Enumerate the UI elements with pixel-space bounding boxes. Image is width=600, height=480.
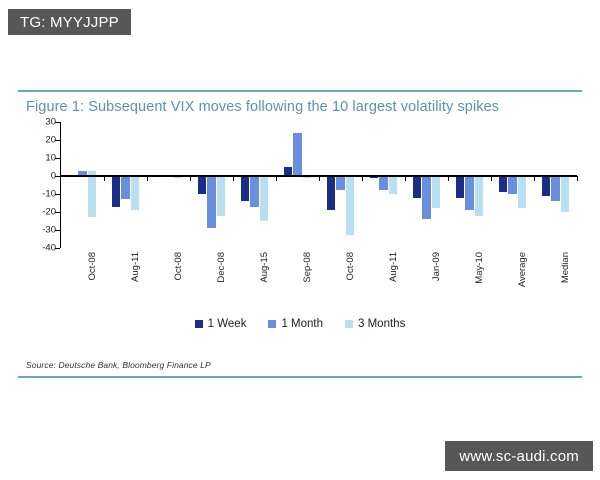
bar-group (198, 122, 226, 248)
legend-item[interactable]: 1 Month (268, 318, 323, 330)
bar-3-months[interactable] (346, 176, 355, 235)
x-axis-tick (104, 176, 105, 181)
chart-plot: 3020100-10-20-30-40 Oct-08Aug-11Oct-08De… (18, 122, 582, 332)
legend-swatch-icon (268, 320, 276, 328)
bar-group (456, 122, 484, 248)
x-axis-tick (362, 176, 363, 181)
bar-3-months[interactable] (217, 176, 226, 216)
y-axis-tick (55, 176, 60, 177)
x-axis-tick (319, 176, 320, 181)
legend-swatch-icon (345, 320, 353, 328)
y-tick-label: -40 (42, 243, 56, 254)
legend-label: 1 Month (281, 318, 323, 330)
bar-1-week[interactable] (241, 176, 250, 201)
x-axis-tick (190, 176, 191, 181)
bar-1-month[interactable] (379, 176, 388, 190)
x-tick-label: Dec-08 (216, 252, 227, 283)
bar-3-months[interactable] (561, 176, 570, 212)
legend-swatch-icon (195, 320, 203, 328)
bar-group (499, 122, 527, 248)
plot-area (61, 122, 577, 248)
bar-1-week[interactable] (112, 176, 121, 207)
bar-1-month[interactable] (465, 176, 474, 210)
y-axis-tick (55, 140, 60, 141)
watermark-top: TG: MYYJJPP (8, 9, 131, 35)
x-axis-tick (405, 176, 406, 181)
y-axis-tick (55, 248, 60, 249)
x-axis-tick (276, 176, 277, 181)
bar-1-month[interactable] (121, 176, 130, 199)
x-tick-label: Oct-08 (87, 252, 98, 281)
figure-title: Figure 1: Subsequent VIX moves following… (18, 92, 582, 115)
x-axis-tick (147, 176, 148, 181)
bar-1-month[interactable] (250, 176, 259, 207)
legend-label: 1 Week (208, 318, 247, 330)
bar-3-months[interactable] (389, 176, 398, 194)
x-tick-label: Median (560, 252, 571, 283)
x-tick-label: Aug-15 (259, 252, 270, 283)
x-tick-label: Aug-11 (388, 252, 399, 282)
bar-group (155, 122, 183, 248)
bar-1-week[interactable] (327, 176, 336, 210)
bar-1-month[interactable] (207, 176, 216, 228)
y-axis-tick-labels: 3020100-10-20-30-40 (28, 122, 56, 248)
legend-label: 3 Months (358, 318, 405, 330)
x-axis-tick-labels: Oct-08Aug-11Oct-08Dec-08Aug-15Sep-08Oct-… (61, 250, 577, 316)
bar-3-months[interactable] (260, 176, 269, 221)
y-tick-label: -30 (42, 225, 56, 236)
x-axis-tick (233, 176, 234, 181)
x-tick-label: Oct-08 (173, 252, 184, 281)
bar-group (413, 122, 441, 248)
y-axis-tick (55, 194, 60, 195)
y-axis-tick (55, 122, 60, 123)
bar-3-months[interactable] (88, 176, 97, 217)
x-axis-tick (577, 176, 578, 181)
bar-group (542, 122, 570, 248)
bar-3-months[interactable] (131, 176, 140, 210)
chart-legend: 1 Week1 Month3 Months (18, 318, 582, 330)
legend-item[interactable]: 3 Months (345, 318, 405, 330)
bar-group (241, 122, 269, 248)
x-axis-tick (448, 176, 449, 181)
bar-group (284, 122, 312, 248)
bar-1-month[interactable] (293, 133, 302, 176)
y-tick-label: -10 (42, 189, 56, 200)
bar-1-month[interactable] (422, 176, 431, 219)
x-axis-tick (491, 176, 492, 181)
watermark-bottom: www.sc-audi.com (445, 441, 593, 471)
legend-item[interactable]: 1 Week (195, 318, 247, 330)
bar-1-week[interactable] (198, 176, 207, 194)
x-tick-label: Oct-08 (345, 252, 356, 281)
x-tick-label: Jan-09 (431, 252, 442, 281)
x-tick-label: Average (517, 252, 528, 287)
x-tick-label: Aug-11 (130, 252, 141, 282)
x-axis-tick (534, 176, 535, 181)
bar-1-month[interactable] (551, 176, 560, 201)
bar-group (69, 122, 97, 248)
bar-1-month[interactable] (508, 176, 517, 194)
y-tick-label: -20 (42, 207, 56, 218)
bar-1-week[interactable] (456, 176, 465, 198)
bar-3-months[interactable] (475, 176, 484, 216)
bar-3-months[interactable] (518, 176, 527, 208)
y-axis-tick (55, 230, 60, 231)
bar-3-months[interactable] (432, 176, 441, 208)
bar-group (112, 122, 140, 248)
bar-1-week[interactable] (413, 176, 422, 198)
y-axis-tick (55, 158, 60, 159)
bar-group (327, 122, 355, 248)
bar-1-month[interactable] (336, 176, 345, 190)
x-tick-label: May-10 (474, 252, 485, 284)
x-tick-label: Sep-08 (302, 252, 313, 283)
figure-panel: Figure 1: Subsequent VIX moves following… (18, 90, 582, 378)
bar-1-week[interactable] (542, 176, 551, 196)
bar-group (370, 122, 398, 248)
y-axis-tick (55, 212, 60, 213)
bar-1-week[interactable] (499, 176, 508, 192)
source-note: Source: Deutsche Bank, Bloomberg Finance… (26, 360, 211, 370)
